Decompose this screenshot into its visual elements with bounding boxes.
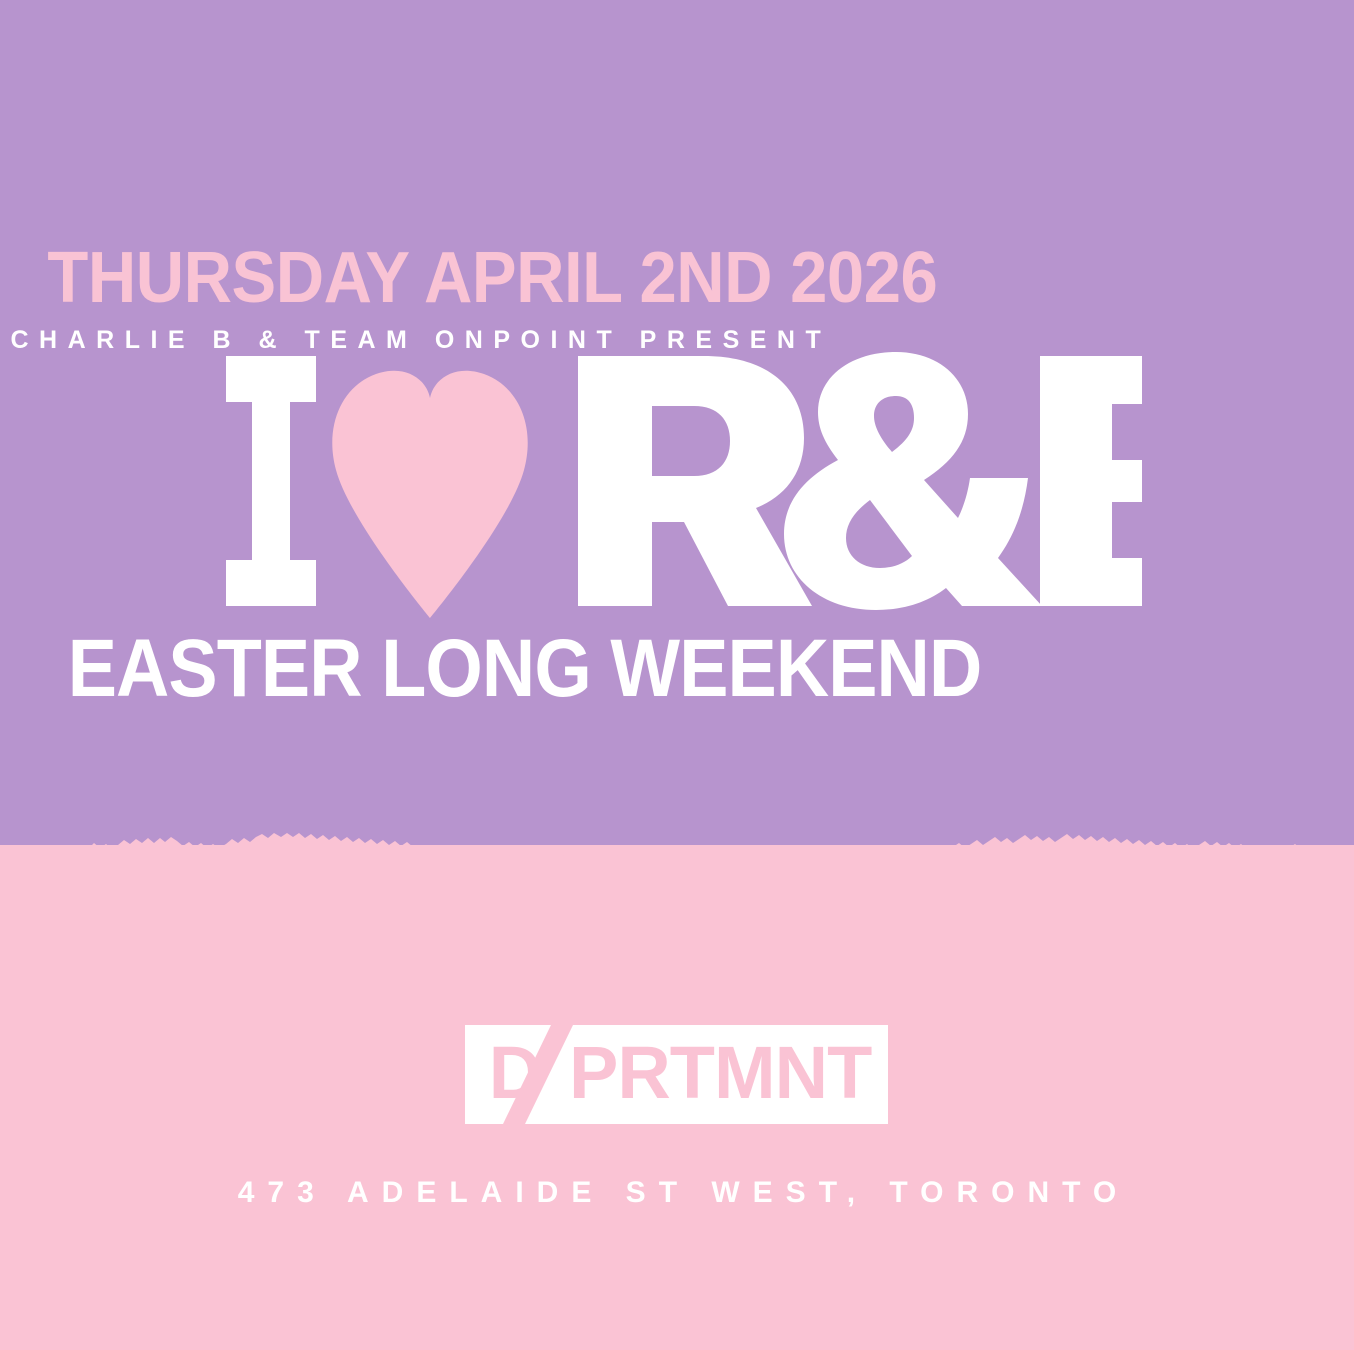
- hero-letter-b: [1040, 356, 1142, 606]
- venue-logo: D/PRTMNT D PRTMNT: [465, 1025, 888, 1124]
- logo-box: [465, 1025, 888, 1124]
- hero-lockup: I LOVE R&B: [0, 352, 1354, 622]
- hero-letter-i: [226, 356, 316, 606]
- hero-ampersand: [784, 352, 1042, 610]
- presenter-credit: CHARLIE B & TEAM ONPOINT PRESENT: [0, 326, 1354, 355]
- i-love-rb-logo: I LOVE R&B: [212, 352, 1142, 622]
- event-date: THURSDAY APRIL 2ND 2026: [47, 243, 1306, 314]
- heart-icon: [332, 371, 527, 618]
- event-subtitle: EASTER LONG WEEKEND: [68, 628, 1287, 710]
- event-flyer: THURSDAY APRIL 2ND 2026 CHARLIE B & TEAM…: [0, 0, 1354, 1350]
- venue-address: 473 ADELAIDE ST WEST, TORONTO: [0, 1176, 1354, 1210]
- dprtmnt-logo-mark: D/PRTMNT D PRTMNT: [465, 1025, 888, 1124]
- torn-paper-edge-divider: [0, 826, 1354, 886]
- hero-letter-r: [578, 356, 812, 606]
